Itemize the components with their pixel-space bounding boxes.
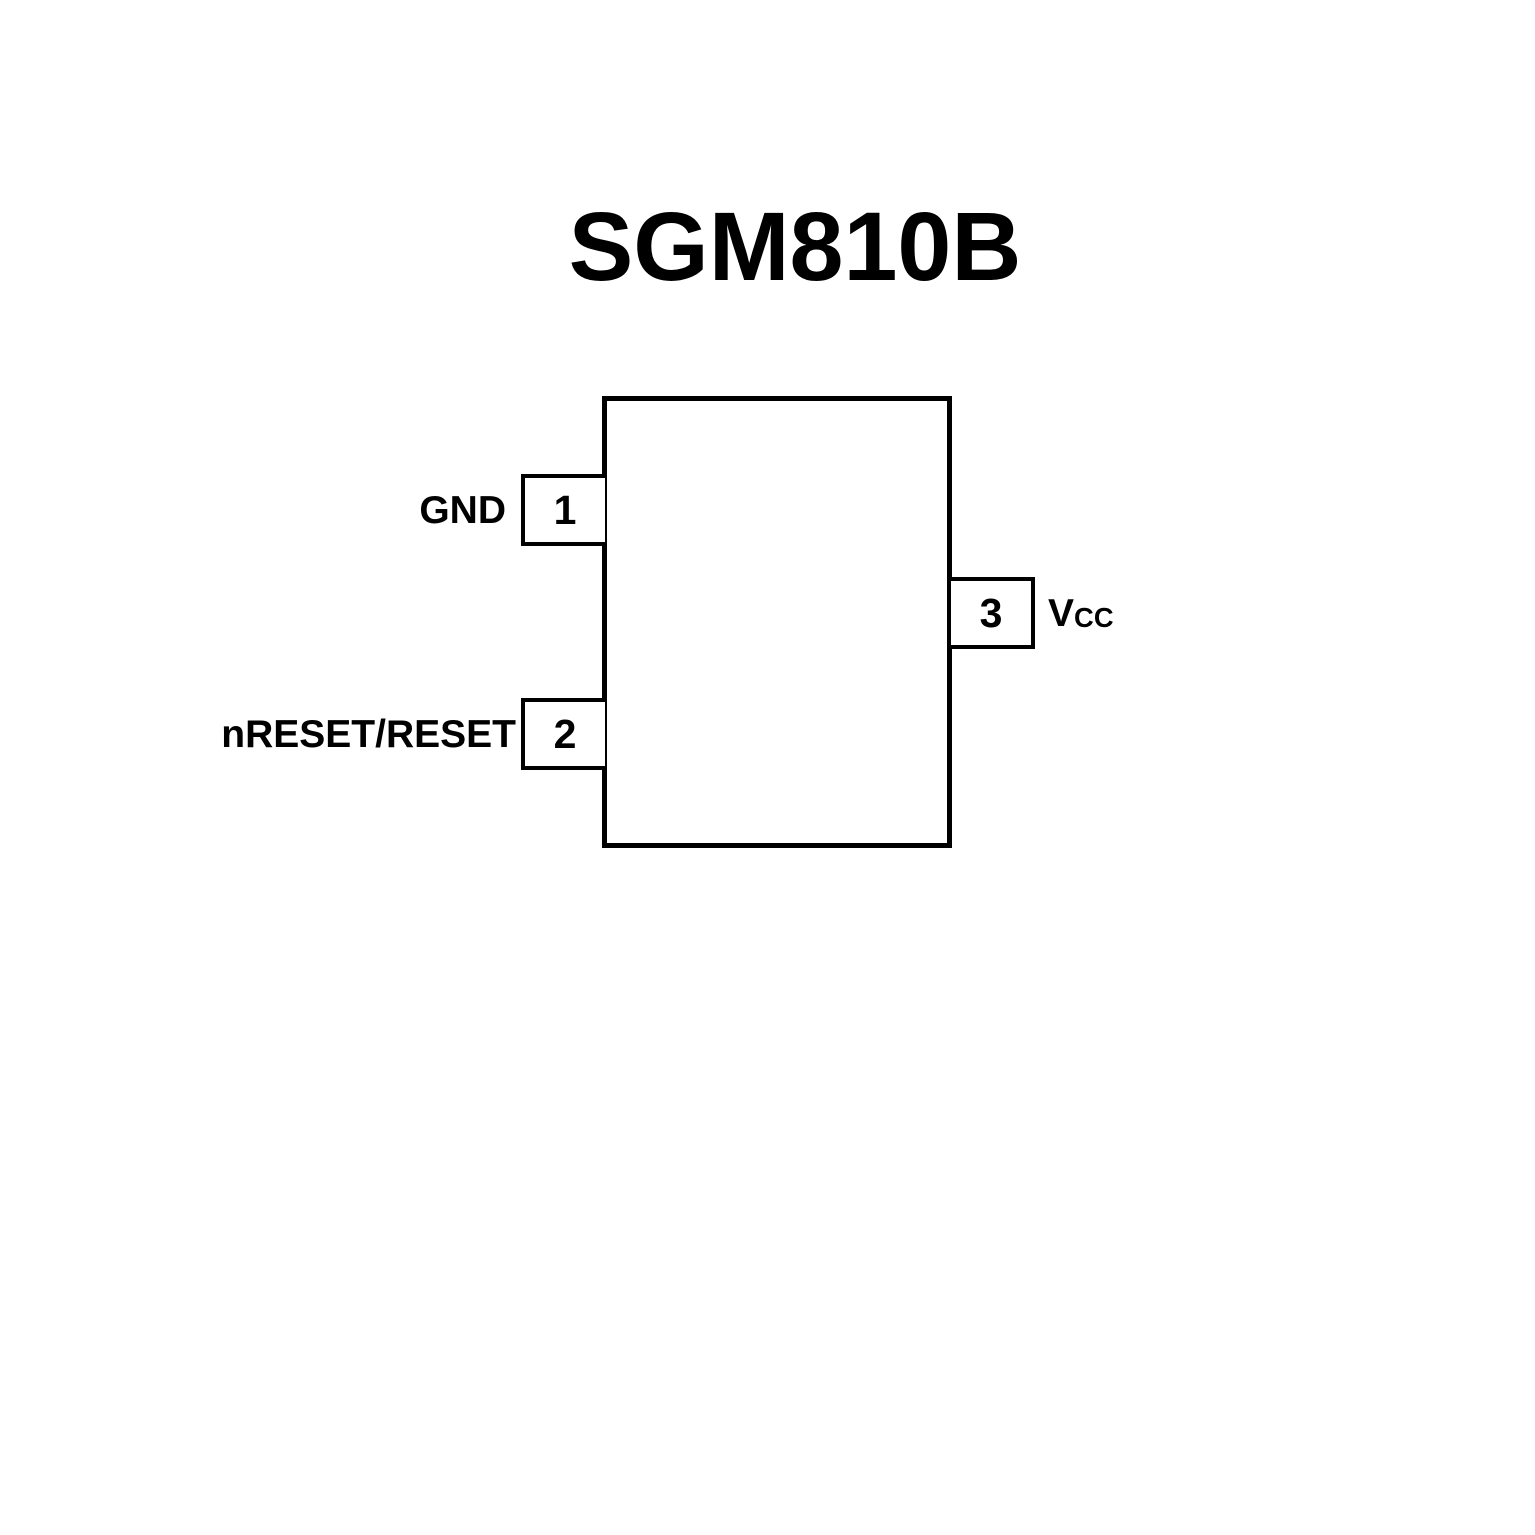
pin-label-2: nRESET/RESET <box>221 698 516 770</box>
pin-number-1: 1 <box>554 490 577 531</box>
pin-box-1: 1 <box>521 474 605 546</box>
pin-number-3: 3 <box>980 593 1003 634</box>
pin-label-2-text: nRESET/RESET <box>221 715 516 754</box>
pin-label-1: GND <box>419 474 506 546</box>
pin-box-2: 2 <box>521 698 605 770</box>
pin-label-1-text: GND <box>419 491 506 530</box>
pin-number-2: 2 <box>554 714 577 755</box>
ic-pinout-diagram: 1 GND 2 nRESET/RESET 3 VCC <box>0 0 1535 1535</box>
pin-label-3-text: V <box>1048 594 1074 633</box>
pin-label-3-subscript: CC <box>1074 604 1114 631</box>
pin-box-3: 3 <box>951 577 1035 649</box>
pin-label-3: VCC <box>1048 577 1114 649</box>
ic-body-outline <box>602 396 952 848</box>
